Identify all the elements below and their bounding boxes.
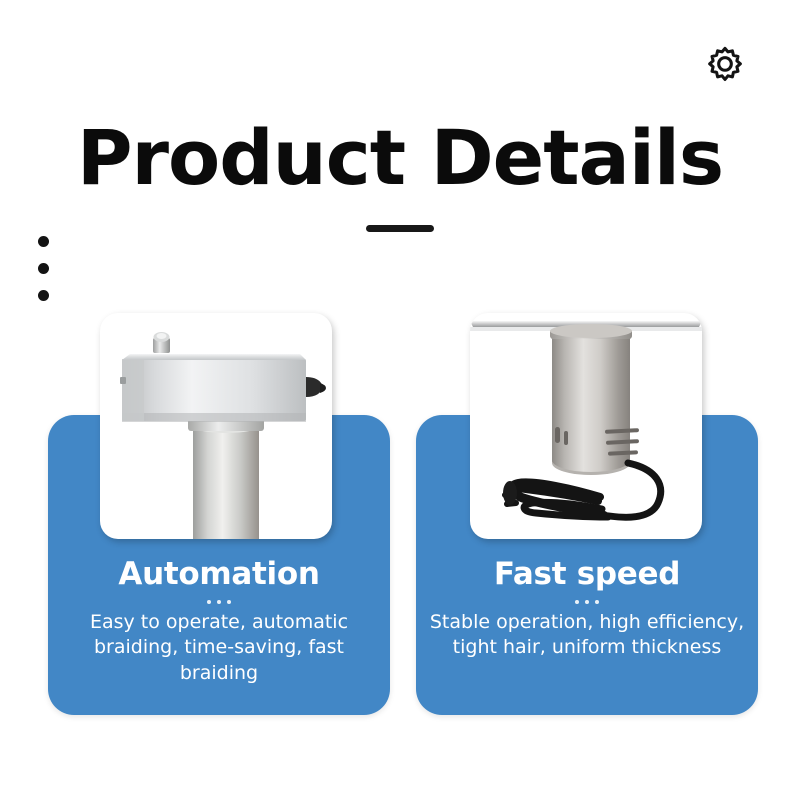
separator-dot [217,600,221,604]
feature-card-description: Stable operation, high efficiency, tight… [426,610,748,661]
feature-card-text: Automation Easy to operate, automatic br… [48,557,390,686]
gear-icon [702,44,748,90]
title-underline-rule [366,225,434,232]
feature-card-separator-dots [58,600,380,604]
product-photo-panel-fast-speed [470,313,702,539]
feature-card-text: Fast speed Stable operation, high effici… [416,557,758,661]
feature-card-title: Fast speed [426,557,748,591]
settings-gear-button[interactable] [700,42,750,92]
decorative-dots-column [38,236,49,301]
decorative-dot [38,290,49,301]
product-image-braider-head [100,313,332,539]
decorative-dot [38,263,49,274]
feature-card-separator-dots [426,600,748,604]
separator-dot [227,600,231,604]
separator-dot [585,600,589,604]
feature-card-title: Automation [58,557,380,591]
product-image-braider-cylinder [470,313,702,539]
page-title: Product Details [0,118,800,198]
feature-card-description: Easy to operate, automatic braiding, tim… [58,610,380,686]
separator-dot [595,600,599,604]
feature-cards-section: Automation Easy to operate, automatic br… [0,313,800,733]
product-photo-panel-automation [100,313,332,539]
separator-dot [575,600,579,604]
separator-dot [207,600,211,604]
decorative-dot [38,236,49,247]
